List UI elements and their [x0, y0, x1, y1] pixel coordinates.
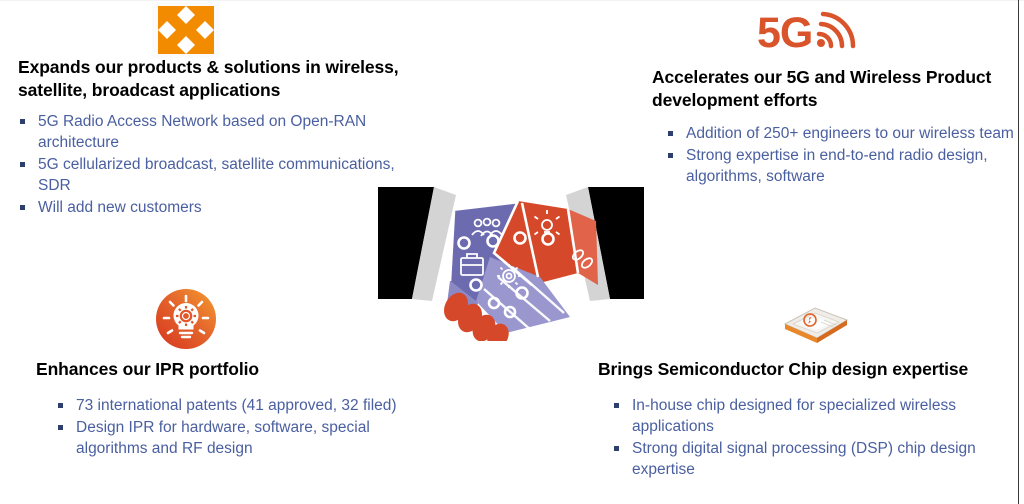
block-ipr: Enhances our IPR portfolio 73 internatio… [36, 358, 416, 460]
top-edge-line [0, 0, 1024, 1]
block-expands-bullet-list: 5G Radio Access Network based on Open-RA… [18, 111, 418, 219]
list-item: Design IPR for hardware, software, speci… [56, 417, 416, 459]
block-ipr-bullet-list: 73 international patents (41 approved, 3… [36, 395, 416, 460]
handshake-puzzle-illustration [372, 181, 650, 341]
list-item: 5G cellularized broadcast, satellite com… [18, 154, 418, 196]
bullet-marker-icon [20, 162, 25, 167]
list-item: In-house chip designed for specialized w… [612, 395, 1022, 437]
bullet-text: 73 international patents (41 approved, 3… [76, 397, 397, 414]
list-item: Strong expertise in end-to-end radio des… [666, 145, 1020, 187]
block-ipr-heading: Enhances our IPR portfolio [36, 358, 416, 381]
list-item: 73 international patents (41 approved, 3… [56, 395, 416, 416]
list-item: 5G Radio Access Network based on Open-RA… [18, 111, 418, 153]
block-accelerates-heading: Accelerates our 5G and Wireless Product … [652, 66, 1020, 112]
five-g-signal-icon: 5G [757, 6, 861, 61]
block-chip: Brings Semiconductor Chip design experti… [598, 358, 1022, 482]
list-item: Strong digital signal processing (DSP) c… [612, 438, 1022, 480]
bullet-marker-icon [58, 425, 63, 430]
bullet-marker-icon [20, 205, 25, 210]
bullet-text: Strong expertise in end-to-end radio des… [686, 147, 988, 185]
lightbulb-gear-icon [155, 288, 217, 355]
bullet-text: 5G Radio Access Network based on Open-RA… [38, 113, 366, 151]
bullet-marker-icon [20, 119, 25, 124]
bullet-text: Design IPR for hardware, software, speci… [76, 419, 370, 457]
list-item: Addition of 250+ engineers to our wirele… [666, 123, 1020, 144]
bullet-text: 5G cellularized broadcast, satellite com… [38, 156, 395, 194]
bullet-marker-icon [668, 131, 673, 136]
list-item: Will add new customers [18, 197, 418, 218]
bullet-marker-icon [668, 153, 673, 158]
block-expands-heading: Expands our products & solutions in wire… [18, 56, 418, 102]
bullet-text: Will add new customers [38, 199, 202, 216]
bullet-text: In-house chip designed for specialized w… [632, 397, 956, 435]
bullet-text: Strong digital signal processing (DSP) c… [632, 440, 976, 478]
bullet-text: Addition of 250+ engineers to our wirele… [686, 125, 1014, 142]
slide-canvas: Expands our products & solutions in wire… [0, 0, 1024, 504]
bullet-marker-icon [614, 403, 619, 408]
block-chip-bullet-list: In-house chip designed for specialized w… [598, 395, 1022, 481]
bullet-marker-icon [614, 446, 619, 451]
semiconductor-chip-icon [775, 298, 857, 351]
block-accelerates-bullet-list: Addition of 250+ engineers to our wirele… [652, 123, 1020, 188]
expand-arrows-icon [152, 2, 220, 63]
svg-text:5G: 5G [757, 9, 812, 56]
block-expands: Expands our products & solutions in wire… [18, 56, 418, 220]
bullet-marker-icon [58, 403, 63, 408]
block-chip-heading: Brings Semiconductor Chip design experti… [598, 358, 1022, 381]
block-accelerates: Accelerates our 5G and Wireless Product … [652, 66, 1020, 188]
